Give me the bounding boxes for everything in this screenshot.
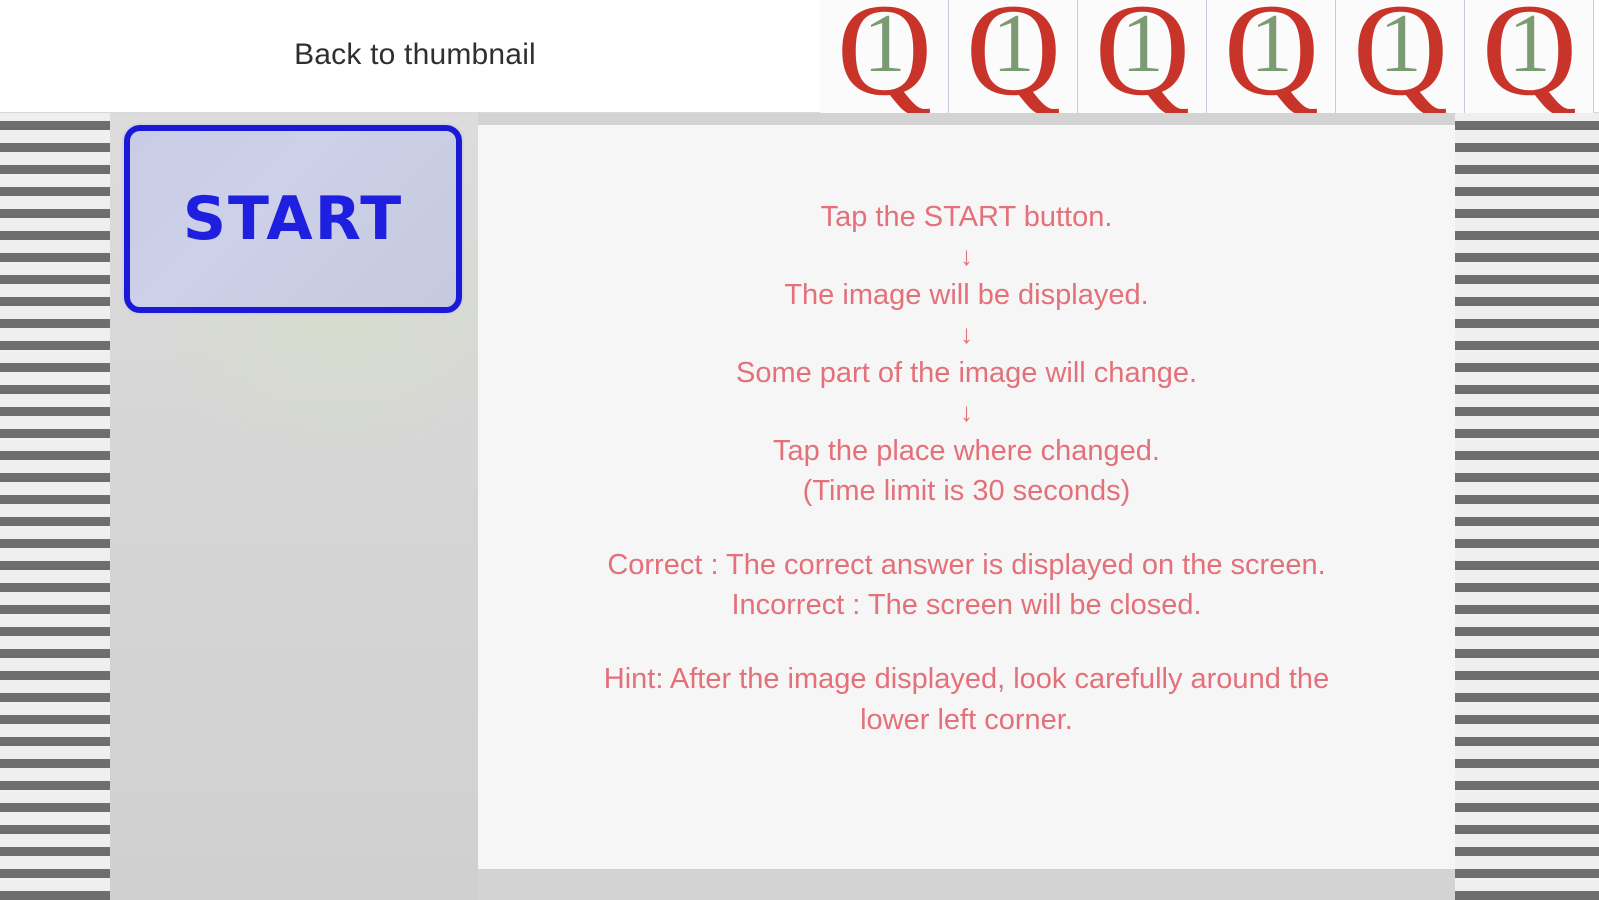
instructions-panel: Tap the START button. ↓ The image will b… — [478, 125, 1455, 869]
tab-question-3[interactable]: Q 1 — [1078, 0, 1207, 113]
spacer — [502, 511, 1431, 545]
question-tabstrip[interactable]: Q 1 Q 1 Q 1 Q 1 — [820, 0, 1599, 113]
time-limit-note: (Time limit is 30 seconds) — [502, 471, 1431, 511]
tab-question-4[interactable]: Q 1 — [1207, 0, 1336, 113]
start-button[interactable]: START — [124, 125, 462, 313]
start-button-label: START — [183, 184, 403, 254]
main-content-area: START Tap the START button. ↓ The image … — [0, 113, 1599, 900]
header-bar: Back to thumbnail Q 1 Q 1 Q 1 — [0, 0, 1599, 113]
tab-question-2[interactable]: Q 1 — [949, 0, 1078, 113]
start-panel: START — [110, 113, 478, 900]
down-arrow-icon: ↓ — [502, 315, 1431, 353]
tab-question-6[interactable]: Q 1 — [1465, 0, 1594, 113]
tab-number: 1 — [949, 2, 1078, 86]
instruction-step-4: Tap the place where changed. — [502, 431, 1431, 471]
tab-number: 1 — [1078, 2, 1207, 86]
tab-question-5[interactable]: Q 1 — [1336, 0, 1465, 113]
tab-number: 1 — [1336, 2, 1465, 86]
down-arrow-icon: ↓ — [502, 237, 1431, 275]
q1-icon: Q 1 — [1336, 0, 1465, 113]
hint-line-1: Hint: After the image displayed, look ca… — [502, 659, 1431, 700]
spacer — [502, 625, 1431, 659]
down-arrow-icon: ↓ — [502, 393, 1431, 431]
instruction-step-1: Tap the START button. — [502, 197, 1431, 237]
correct-result-text: Correct : The correct answer is displaye… — [502, 545, 1431, 585]
q1-icon: Q 1 — [1465, 0, 1594, 113]
app-screen: Back to thumbnail Q 1 Q 1 Q 1 — [0, 0, 1599, 900]
q1-icon: Q 1 — [949, 0, 1078, 113]
tab-number: 1 — [820, 2, 949, 86]
instruction-step-3: Some part of the image will change. — [502, 353, 1431, 393]
q1-icon: Q 1 — [820, 0, 949, 113]
right-hatch-decoration — [1455, 113, 1599, 900]
hint-line-2: lower left corner. — [502, 700, 1431, 741]
q1-icon: Q 1 — [1078, 0, 1207, 113]
q1-icon: Q 1 — [1207, 0, 1336, 113]
tab-number: 1 — [1465, 2, 1594, 86]
tab-question-1[interactable]: Q 1 — [820, 0, 949, 113]
hint-text: Hint: After the image displayed, look ca… — [502, 659, 1431, 741]
incorrect-result-text: Incorrect : The screen will be closed. — [502, 585, 1431, 625]
tab-number: 1 — [1207, 2, 1336, 86]
back-to-thumbnail-link[interactable]: Back to thumbnail — [250, 38, 580, 72]
instruction-step-2: The image will be displayed. — [502, 275, 1431, 315]
left-hatch-decoration — [0, 113, 110, 900]
